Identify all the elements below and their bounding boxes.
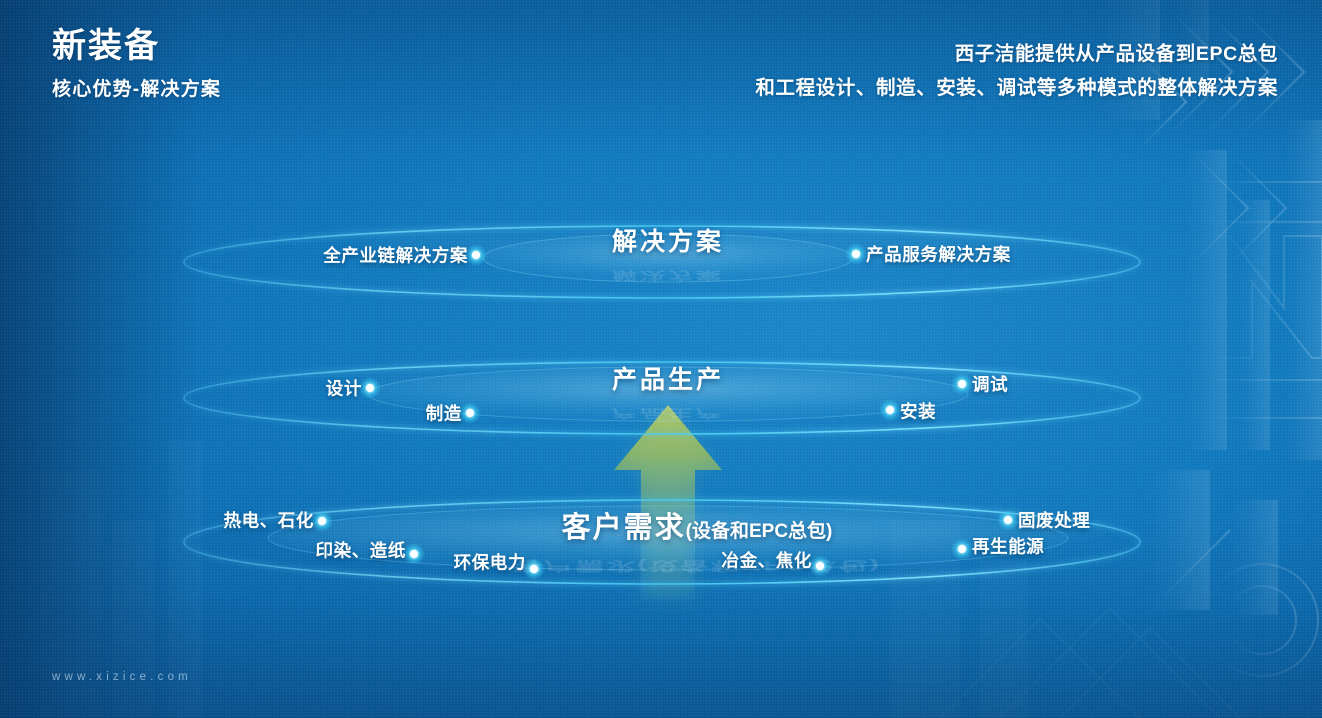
ring-title-demand-main: 客户需求 xyxy=(562,512,686,544)
footer-website-url: www.xizice.com xyxy=(52,671,192,683)
node-label-design: 设计 xyxy=(326,376,362,401)
node-label-manufacture: 制造 xyxy=(426,401,462,426)
solution-diagram: 解决方案 解决方案 产品生产 产品生产 客户需求(设备和EPC总包) 客户需求(… xyxy=(0,0,1322,718)
diagram-canvas xyxy=(0,0,1322,718)
node-label-environmental-power: 环保电力 xyxy=(454,550,526,575)
ring-title-demand-note: (设备和EPC总包) xyxy=(686,521,833,542)
ring-title-production: 产品生产 xyxy=(612,360,724,396)
ring-title-echo-demand: 客户需求(设备和EPC总包) xyxy=(513,558,881,577)
node-label-full-industry-chain: 全产业链解决方案 xyxy=(323,243,468,268)
ring-title-solution: 解决方案 xyxy=(612,222,724,258)
node-label-thermal-petrochemical: 热电、石化 xyxy=(224,508,315,533)
node-label-metallurgy-coking: 冶金、焦化 xyxy=(722,548,813,573)
node-label-product-service: 产品服务解决方案 xyxy=(866,242,1011,267)
node-label-installation: 安装 xyxy=(900,399,936,424)
ring-title-echo-production: 产品生产 xyxy=(612,406,724,422)
node-label-printing-papermaking: 印染、造纸 xyxy=(316,538,407,563)
node-label-solid-waste: 固废处理 xyxy=(1018,508,1090,533)
ring-title-demand: 客户需求(设备和EPC总包) xyxy=(562,504,833,546)
ring-title-echo-solution: 解决方案 xyxy=(612,268,724,284)
slide-root: 新装备 核心优势-解决方案 西子洁能提供从产品设备到EPC总包 和工程设计、制造… xyxy=(0,0,1322,718)
node-label-commissioning: 调试 xyxy=(972,372,1008,397)
node-label-renewable-energy: 再生能源 xyxy=(972,534,1044,559)
